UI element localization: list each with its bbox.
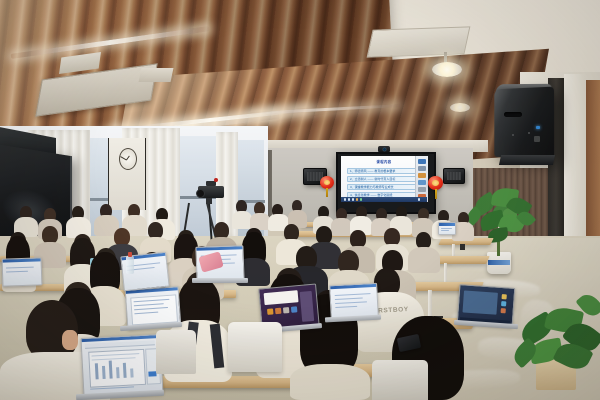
laptop-titlebar: [196, 246, 242, 251]
chair-back: [228, 322, 282, 372]
laptop-content-row: [441, 228, 452, 229]
water-bottle: [126, 256, 134, 274]
bottle-cap-icon: [128, 252, 132, 257]
ac-vent: [139, 68, 174, 82]
laptop-dock-icon[interactable]: [283, 307, 290, 314]
laptop-titlebar: [330, 284, 376, 289]
speaker-badge: [534, 136, 540, 142]
laptop-content-row: [335, 306, 357, 308]
speaker-handle-icon: [504, 112, 522, 117]
speaker-screw: [512, 134, 514, 136]
camera-lens-icon: [383, 148, 386, 151]
speaker-grille: [447, 172, 461, 180]
laptop-content-row: [335, 298, 363, 301]
laptop-screen-spreadsheet[interactable]: [80, 334, 163, 398]
laptop-titlebar: [3, 258, 41, 262]
person-body: [232, 211, 252, 229]
laptop-content-row: [335, 301, 367, 304]
taskbar-icon[interactable]: [344, 198, 346, 200]
taskbar-icon[interactable]: [348, 198, 350, 200]
chinese-knot-ornament-right: [428, 176, 443, 190]
wall-speaker-right: [443, 168, 465, 184]
ceiling-downlight: [432, 62, 462, 77]
laptop-content-row: [335, 293, 371, 296]
slide-bullet: 1、师德师风 —— 教育的根本要求: [347, 168, 417, 174]
laptop-titlebar: [439, 223, 455, 226]
ceiling-downlight: [450, 103, 470, 112]
person-body: [408, 247, 440, 273]
screen-side-toolbar[interactable]: [415, 156, 428, 202]
toolbar-icon[interactable]: [418, 187, 426, 192]
slide-bullet: 2、立德树人 —— 新时代育人目标: [347, 176, 417, 182]
chair-back: [372, 360, 428, 400]
laptop-base: [192, 278, 248, 283]
classroom-scene: 课程内容 1、师德师风 —— 教育的根本要求 2、立德树人 —— 新时代育人目标…: [0, 0, 600, 400]
taskbar-icon[interactable]: [418, 198, 420, 200]
ornament-core: [432, 180, 439, 186]
laptop-content-row: [441, 230, 449, 231]
slide-bullet: 3、课堂教学能力与教师专业成长: [347, 184, 417, 190]
speaker-screw: [528, 132, 530, 134]
taskbar-icon[interactable]: [352, 198, 354, 200]
camera-lens-icon: [196, 189, 205, 198]
laptop-desktop-icon[interactable]: [501, 308, 506, 313]
laptop-content-row: [6, 267, 34, 269]
laptop-bar: [130, 368, 133, 377]
plant-pot-band: [488, 260, 510, 265]
ac-vent: [367, 26, 471, 57]
laptop-content-row: [6, 271, 28, 273]
taskbar-icon[interactable]: [360, 198, 362, 200]
person-body: [331, 218, 352, 236]
toolbar-icon[interactable]: [418, 173, 426, 178]
laptop-window[interactable]: [264, 290, 299, 305]
speaker-mount-bracket: [499, 155, 555, 165]
person-ear: [62, 330, 78, 350]
tripod-head: [206, 197, 212, 204]
laptop-dock-icon[interactable]: [267, 308, 274, 315]
camera-mic-icon: [214, 178, 218, 182]
laptop-panel: [300, 291, 315, 322]
laptop-screen[interactable]: [438, 222, 456, 235]
chair-back: [156, 330, 196, 374]
person-body: [290, 364, 370, 400]
toolbar-icon[interactable]: [418, 159, 426, 164]
laptop-desktop-icon[interactable]: [501, 301, 506, 306]
laptop-bar: [116, 367, 120, 378]
taskbar-icon[interactable]: [356, 198, 358, 200]
laptop-screen-left[interactable]: [2, 257, 43, 286]
desk-leg: [428, 290, 432, 318]
ornament-core: [324, 180, 330, 185]
speaker-led-icon: [536, 126, 540, 129]
pa-speaker: [494, 87, 554, 160]
desk-foot: [460, 244, 465, 250]
toolbar-icon[interactable]: [418, 180, 426, 185]
laptop-toolbar[interactable]: [85, 340, 155, 349]
toolbar-icon[interactable]: [418, 166, 426, 171]
laptop-dock-icon[interactable]: [291, 306, 298, 313]
laptop-bar: [102, 366, 106, 379]
laptop-wallpaper: [462, 290, 497, 314]
ornament-tassel: [326, 188, 328, 197]
laptop-desktop-icon[interactable]: [502, 294, 507, 299]
laptop-dock-icon[interactable]: [275, 308, 282, 315]
ornament-tassel: [435, 189, 437, 199]
